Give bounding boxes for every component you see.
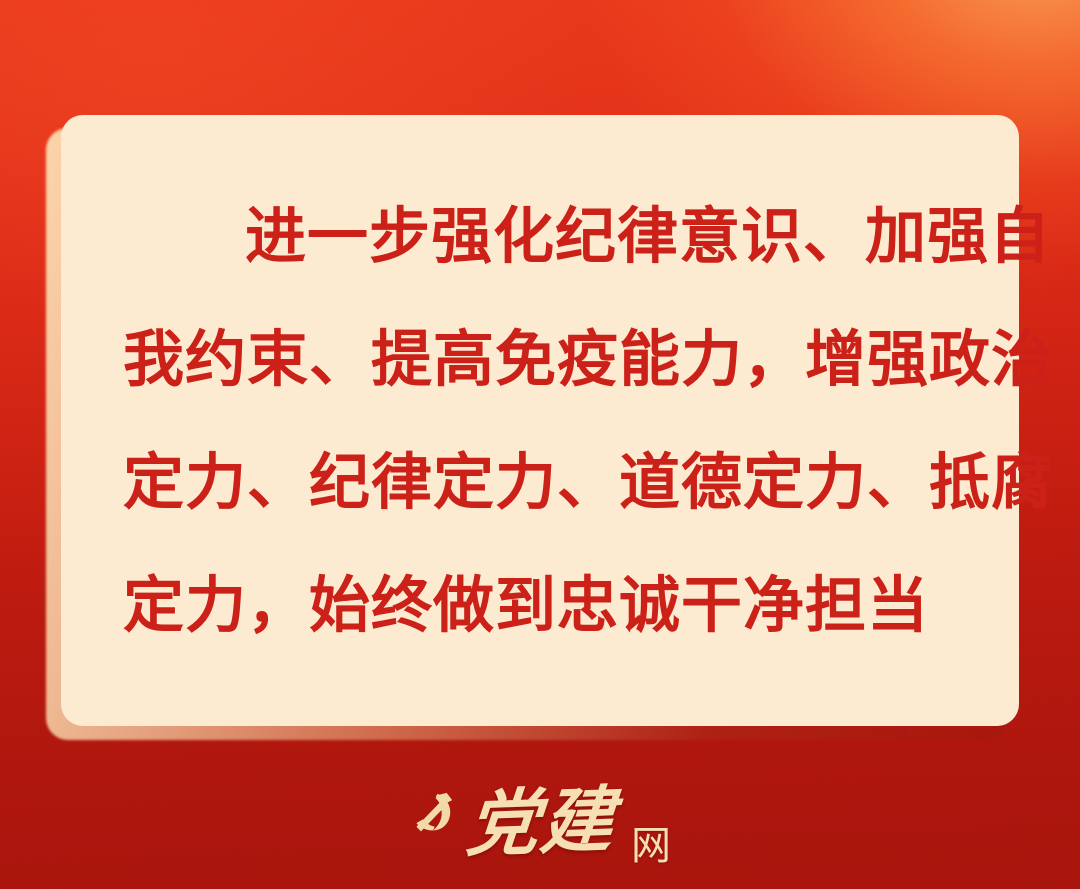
quote-text-block: 进一步强化纪律意识、加强自 我约束、提高免疫能力，增强政治 定力、纪律定力、道德… [123,175,957,667]
brand-lockup: 党建 网 [0,768,1080,876]
quote-line-1: 进一步强化纪律意识、加强自 [123,175,957,298]
cpc-hammer-sickle-emblem-icon [409,791,455,835]
poster-background: 进一步强化纪律意识、加强自 我约束、提高免疫能力，增强政治 定力、纪律定力、道德… [0,0,1080,889]
quote-line-2: 我约束、提高免疫能力，增强政治 [123,298,957,421]
quote-line-3: 定力、纪律定力、道德定力、抵腐 [123,421,957,544]
quote-line-4: 定力，始终做到忠诚干净担当 [123,544,957,667]
quote-card: 进一步强化纪律意识、加强自 我约束、提高免疫能力，增强政治 定力、纪律定力、道德… [61,115,1019,726]
brand-name-suffix: 网 [631,824,671,868]
brand-name-calligraphy: 党建 [463,780,618,863]
